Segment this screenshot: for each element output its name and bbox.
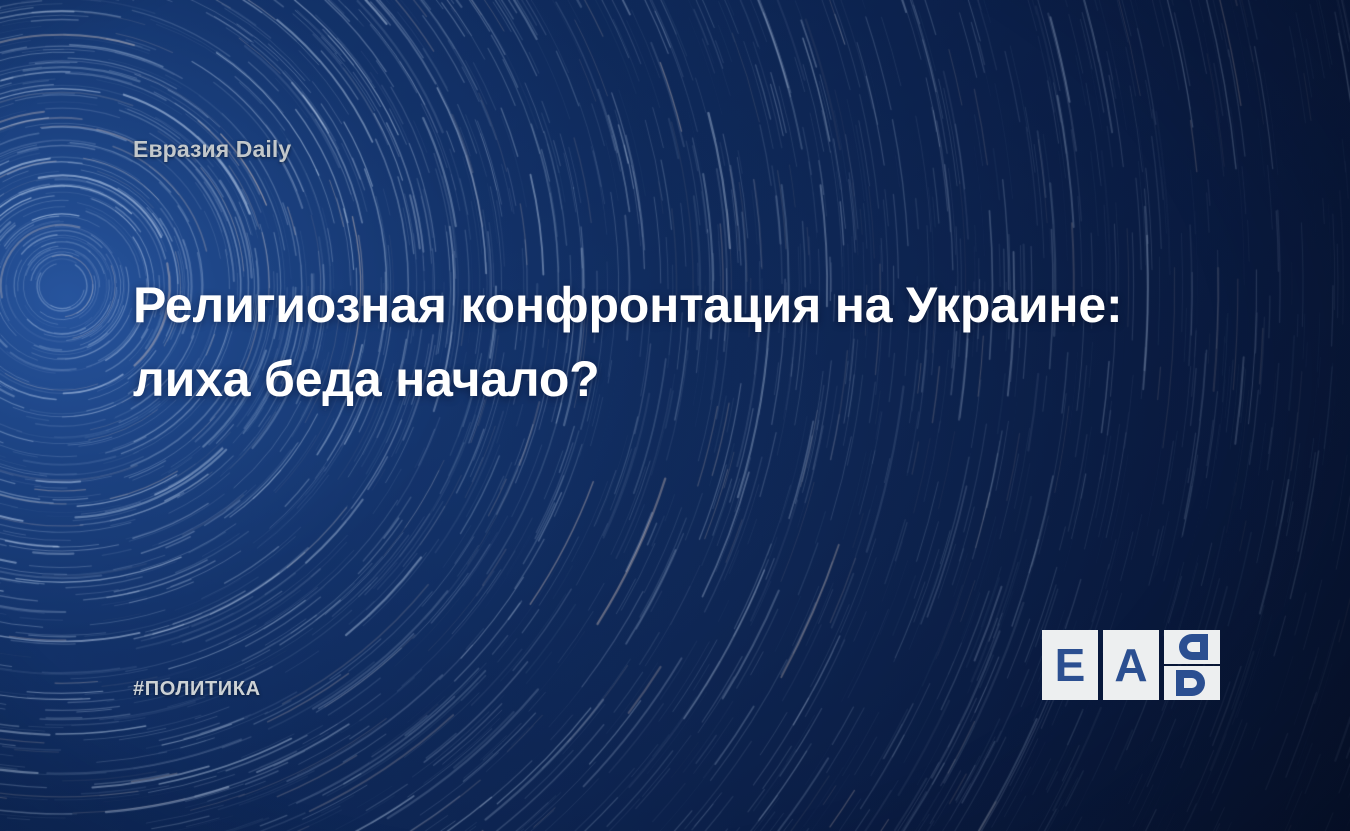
logo-letter-a: A bbox=[1114, 642, 1147, 688]
logo-tile-e: E bbox=[1042, 630, 1098, 700]
brand-wordmark: Евразия Daily bbox=[133, 136, 291, 163]
logo-letter-e: E bbox=[1055, 642, 1086, 688]
card-content: Евразия Daily Религиозная конфронтация н… bbox=[0, 0, 1350, 831]
logo-tile-d bbox=[1164, 630, 1220, 700]
news-share-card: Евразия Daily Религиозная конфронтация н… bbox=[0, 0, 1350, 831]
headline: Религиозная конфронтация на Украине: лих… bbox=[133, 268, 1223, 416]
headline-line-2: лиха беда начало? bbox=[133, 342, 1223, 416]
category-hashtag: #ПОЛИТИКА bbox=[133, 678, 261, 701]
ead-logo: E A bbox=[1042, 630, 1220, 700]
logo-tile-a: A bbox=[1103, 630, 1159, 700]
logo-letter-d-split-icon bbox=[1164, 630, 1220, 700]
headline-line-1: Религиозная конфронтация на Украине: bbox=[133, 268, 1223, 342]
